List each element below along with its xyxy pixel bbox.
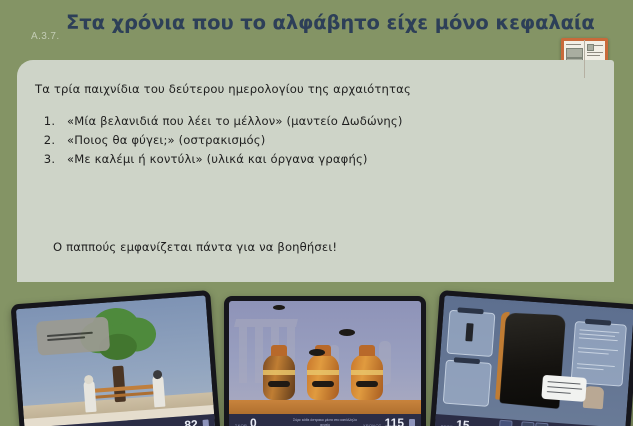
amphora-center[interactable] xyxy=(307,354,339,400)
hud-score: ΣΚΟΡ 0 xyxy=(235,417,257,426)
amphora-label xyxy=(356,381,378,387)
hud-timer: ΧΡΟΝΟΣ 115 xyxy=(363,417,415,426)
scene-ground xyxy=(229,400,421,414)
slide-code: Α.3.7. xyxy=(31,31,60,42)
ostrakon[interactable] xyxy=(309,349,325,356)
inventory-slot[interactable] xyxy=(499,420,513,426)
amphora-neck xyxy=(359,345,375,356)
amphora-band xyxy=(263,370,295,375)
game-screenshot-dodona: ΣΚΟΡ 0 ΧΡΟΝΟΣ 82 xyxy=(16,295,215,426)
list-item: «Με καλέμι ή κοντύλι» (υλικά και όργανα … xyxy=(59,150,600,169)
hud-score-value: 0 xyxy=(250,417,257,426)
character-figure xyxy=(83,380,96,413)
laptop-writing-tools[interactable]: ΣΚΟΡ 15 ΧΡΟΝΟΣ 105 xyxy=(429,290,633,426)
hud-menu-icon[interactable] xyxy=(202,419,209,426)
amphora-right[interactable] xyxy=(351,354,383,400)
device-screenshot-row: ΣΚΟΡ 0 ΧΡΟΝΟΣ 82 xyxy=(0,282,633,426)
amphora-label xyxy=(312,381,334,387)
game-screenshot-writing-tools: ΣΚΟΡ 15 ΧΡΟΝΟΣ 105 xyxy=(435,295,633,426)
amphora-label xyxy=(268,381,290,387)
content-panel: Τα τρία παιχνίδια του δεύτερου ημερολογί… xyxy=(17,60,614,282)
hud-score: ΣΚΟΡ 15 xyxy=(441,417,470,426)
slide-header: Α.3.7. Στα χρόνια που το αλφάβητο είχε μ… xyxy=(0,0,633,56)
laptop-dodona[interactable]: ΣΚΟΡ 0 ΧΡΟΝΟΣ 82 xyxy=(11,290,221,426)
writing-tool-icon xyxy=(465,323,473,341)
temple-pediment xyxy=(234,319,298,327)
panel-lead-text: Τα τρία παιχνίδια του δεύτερου ημερολογί… xyxy=(35,82,600,96)
temple-column xyxy=(239,327,247,383)
list-item: «Μία βελανιδιά που λέει το μέλλον» (μαντ… xyxy=(59,112,600,131)
page-title: Στα χρόνια που το αλφάβητο είχε μόνο κεφ… xyxy=(66,11,595,34)
amphora-neck xyxy=(271,345,287,356)
ostrakon[interactable] xyxy=(339,329,355,336)
game-list: «Μία βελανιδιά που λέει το μέλλον» (μαντ… xyxy=(35,112,600,169)
list-item: «Ποιος θα φύγει;» (οστρακισμός) xyxy=(59,131,600,150)
laptop-ostracism[interactable]: ΣΚΟΡ 0 Σύρε κάθε όστρακο μέσα στο κατάλλ… xyxy=(224,296,426,426)
hud-timer-value: 115 xyxy=(385,417,404,426)
closing-note: Ο παππούς εμφανίζεται πάντα για να βοηθή… xyxy=(53,240,337,254)
game-screenshot-ostracism: ΣΚΟΡ 0 Σύρε κάθε όστρακο μέσα στο κατάλλ… xyxy=(229,301,421,426)
amphora-band xyxy=(351,370,383,375)
tool-card-left-bottom[interactable] xyxy=(443,360,492,407)
book-spine xyxy=(584,40,585,78)
character-head xyxy=(84,375,94,385)
hud-score-label: ΣΚΟΡ xyxy=(235,423,247,426)
hud-timer-value: 82 xyxy=(184,418,198,426)
ostrakon[interactable] xyxy=(273,305,285,310)
presentation-slide: Α.3.7. Στα χρόνια που το αλφάβητο είχε μ… xyxy=(0,0,633,426)
character-head xyxy=(153,370,163,380)
amphora-band xyxy=(307,370,339,375)
inventory-slot[interactable] xyxy=(534,422,548,426)
character-grandpa xyxy=(152,375,165,408)
hud-timer-label: ΧΡΟΝΟΣ xyxy=(363,423,382,426)
inventory-slot[interactable] xyxy=(521,421,535,426)
hud-menu-icon[interactable] xyxy=(409,419,415,426)
hud-timer: ΧΡΟΝΟΣ 82 xyxy=(162,417,209,426)
temple-column xyxy=(255,327,263,383)
amphora-left[interactable] xyxy=(263,354,295,400)
dialogue-bubble xyxy=(541,375,587,402)
dialogue-bubble xyxy=(36,317,110,356)
hud-instruction: Σύρε κάθε όστρακο μέσα στο κατάλληλο αγγ… xyxy=(290,418,360,426)
hud-score-value: 15 xyxy=(456,418,470,426)
game-hud: ΣΚΟΡ 0 Σύρε κάθε όστρακο μέσα στο κατάλλ… xyxy=(229,414,421,426)
